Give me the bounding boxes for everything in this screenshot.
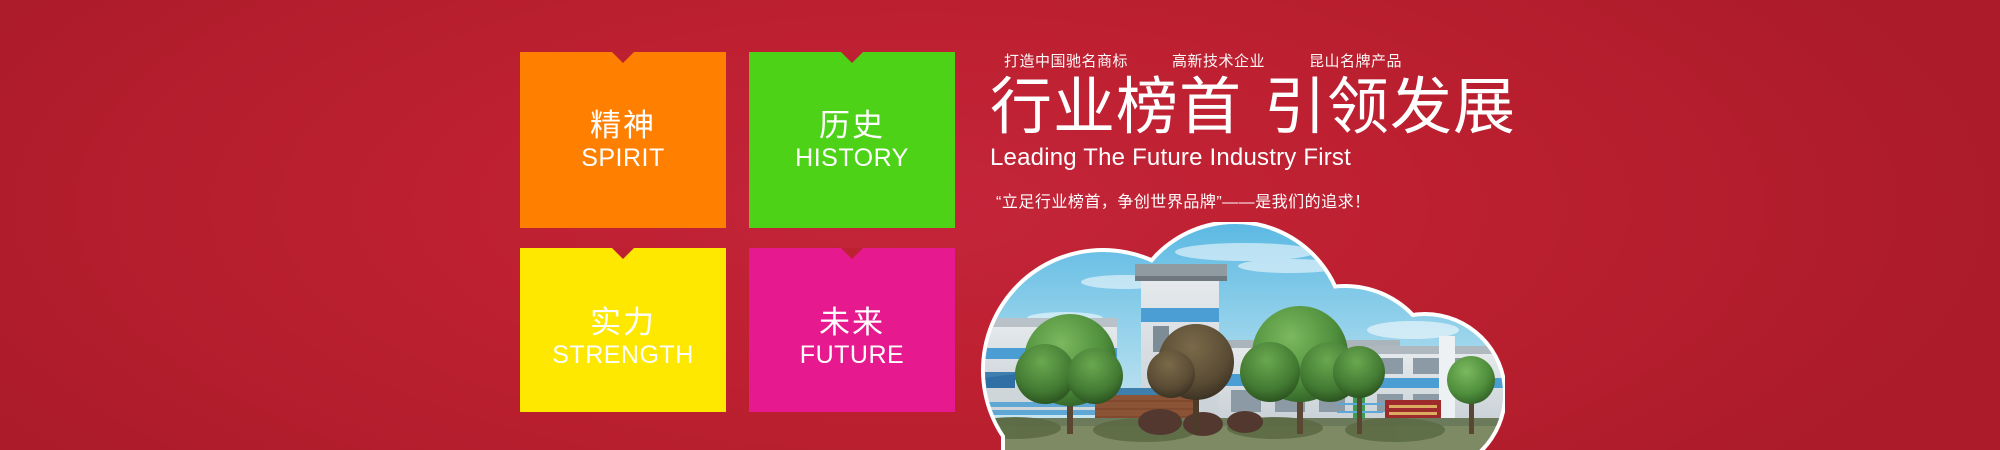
tile-label-en: STRENGTH — [552, 342, 694, 370]
notch-icon — [612, 248, 634, 259]
tile-label-cn: 未来 — [819, 305, 885, 341]
tile-strength[interactable]: 实力 STRENGTH — [520, 248, 726, 412]
page-title: 行业榜首引领发展 — [990, 75, 1510, 140]
notch-icon — [612, 52, 634, 63]
cloud-photo-svg — [945, 222, 1505, 450]
tagline-item: 打造中国驰名商标 — [1004, 50, 1128, 71]
tile-history[interactable]: 历史 HISTORY — [749, 52, 955, 228]
tile-label-cn: 实力 — [590, 305, 656, 341]
tile-spirit[interactable]: 精神 SPIRIT — [520, 52, 726, 228]
slogan-quote: “立足行业榜首，争创世界品牌”——是我们的追求！ — [990, 188, 1510, 212]
tagline-row: 打造中国驰名商标 高新技术企业 昆山名牌产品 — [990, 50, 1510, 71]
promo-banner: 精神 SPIRIT 历史 HISTORY 实力 STRENGTH 未来 FUTU… — [0, 0, 2000, 450]
value-tiles-grid: 精神 SPIRIT 历史 HISTORY 实力 STRENGTH 未来 FUTU… — [520, 52, 955, 412]
headline-part-1: 行业榜首 — [990, 73, 1242, 142]
tile-label-en: FUTURE — [800, 342, 904, 370]
headline-block: 打造中国驰名商标 高新技术企业 昆山名牌产品 行业榜首引领发展 Leading … — [990, 50, 1510, 212]
tile-label-en: HISTORY — [795, 145, 909, 173]
subtitle-english: Leading The Future Industry First — [990, 144, 1510, 172]
tile-future[interactable]: 未来 FUTURE — [749, 248, 955, 412]
factory-photo-cloud — [945, 222, 1505, 450]
headline-part-2: 引领发展 — [1264, 73, 1516, 142]
notch-icon — [841, 52, 863, 63]
photo-content — [945, 222, 1505, 450]
tile-label-en: SPIRIT — [581, 145, 665, 173]
tagline-item: 昆山名牌产品 — [1309, 50, 1402, 71]
notch-icon — [841, 248, 863, 259]
tile-label-cn: 精神 — [590, 108, 656, 144]
tile-label-cn: 历史 — [819, 108, 885, 144]
tagline-item: 高新技术企业 — [1172, 50, 1265, 71]
